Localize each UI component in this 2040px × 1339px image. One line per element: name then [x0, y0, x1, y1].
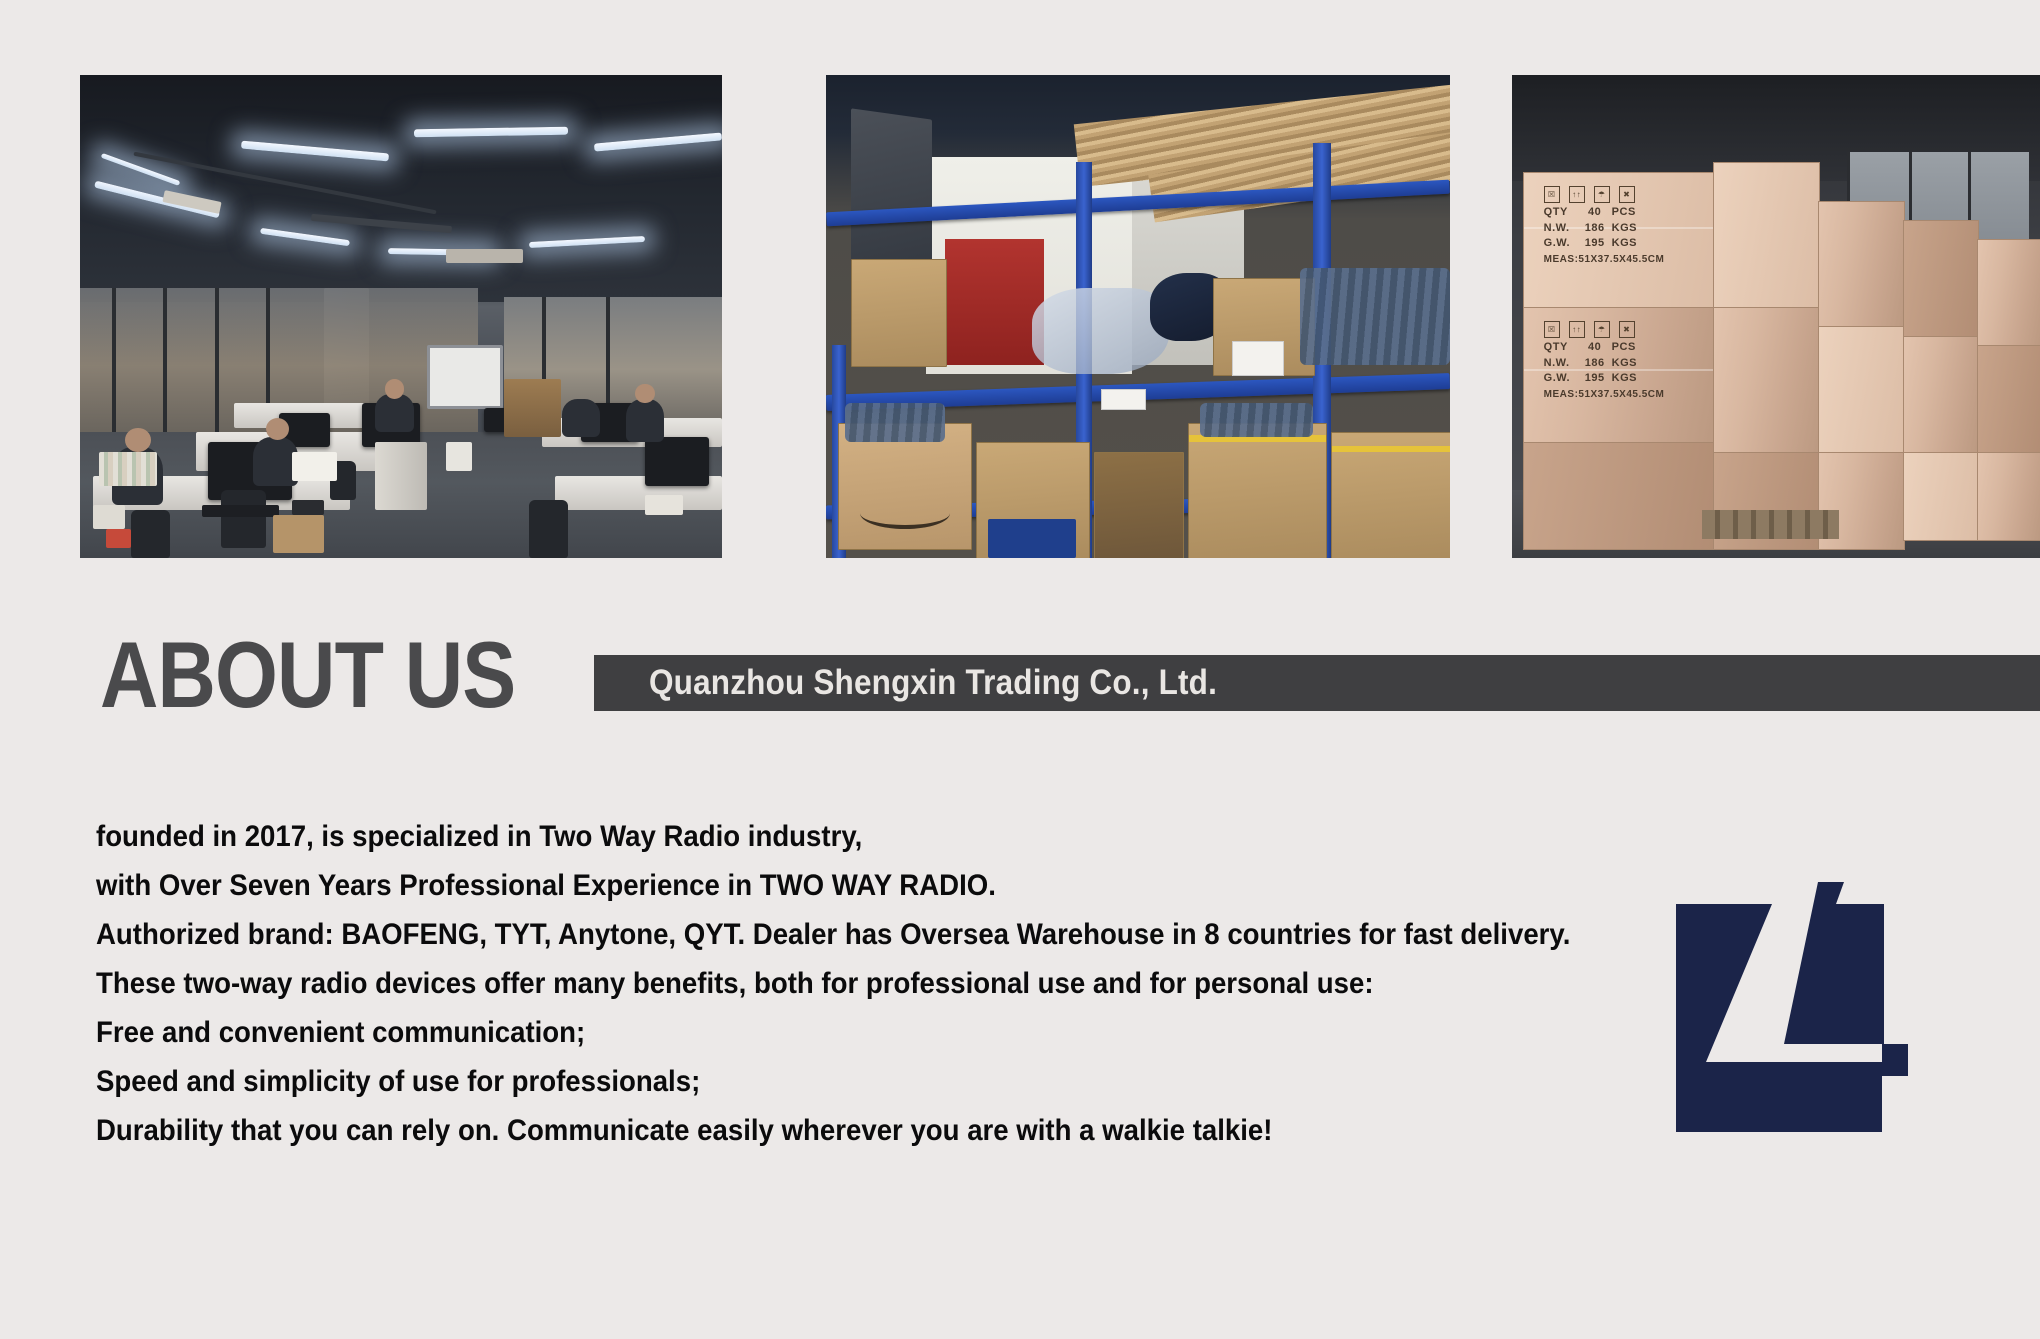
mark-row-qty: QTY 40 PCS [1544, 342, 1665, 354]
shelf-unit [504, 379, 562, 437]
person-head [635, 384, 654, 403]
shelf-label [1101, 389, 1147, 410]
export-carton [1818, 201, 1904, 329]
export-carton [1977, 239, 2040, 347]
mark-unit: KGS [1612, 238, 1637, 250]
this-way-up-icon: ↑↑ [1569, 321, 1585, 338]
paper-sheet [292, 452, 337, 481]
no-hooks-icon: ✖ [1619, 186, 1635, 203]
office-chair [221, 490, 266, 548]
mark-row-gw: G.W. 195 KGS [1544, 373, 1665, 385]
mark-label: G.W. [1544, 373, 1578, 385]
air-conditioner [446, 249, 523, 263]
mark-value: 40 [1578, 342, 1612, 354]
poly-wrapped-goods [1200, 403, 1312, 437]
export-carton [1713, 162, 1821, 309]
mark-unit: KGS [1612, 373, 1637, 385]
mark-label: QTY [1544, 342, 1578, 354]
mark-row-nw: N.W. 186 KGS [1544, 223, 1665, 235]
body-line: Speed and simplicity of use for professi… [96, 1057, 1458, 1106]
mark-label: QTY [1544, 207, 1578, 219]
mark-value: 40 [1578, 207, 1612, 219]
monitor [645, 437, 709, 485]
wooden-pallet [1702, 510, 1839, 539]
export-carton [1713, 307, 1821, 454]
cardboard-carton [1331, 432, 1450, 558]
mark-unit: PCS [1612, 207, 1636, 219]
mark-value: 195 [1578, 373, 1612, 385]
mark-unit: KGS [1612, 358, 1637, 370]
export-carton [1903, 452, 1979, 541]
fragile-icon: ☒ [1544, 321, 1560, 338]
mark-measurement: MEAS:51X37.5X45.5CM [1544, 390, 1665, 401]
mark-label: G.W. [1544, 238, 1578, 250]
body-line: Authorized brand: BAOFENG, TYT, Anytone,… [96, 910, 1458, 959]
red-product-box [945, 239, 1045, 365]
person-head [385, 379, 404, 398]
body-line: Free and convenient communication; [96, 1008, 1458, 1057]
keyboard [202, 505, 279, 517]
no-hooks-icon: ✖ [1619, 321, 1635, 338]
handling-icon-row: ☒ ↑↑ ☂ ✖ [1544, 321, 1665, 338]
body-line: These two-way radio devices offer many b… [96, 959, 1458, 1008]
keep-dry-icon: ☂ [1594, 321, 1610, 338]
keep-dry-icon: ☂ [1594, 186, 1610, 203]
amazon-smile-icon [860, 498, 949, 530]
about-body-text: founded in 2017, is specialized in Two W… [96, 812, 1576, 1155]
handling-icon-row: ☒ ↑↑ ☂ ✖ [1544, 186, 1665, 203]
whiteboard [427, 345, 504, 409]
cardboard-carton [851, 259, 947, 367]
yellow-tape [1332, 446, 1450, 452]
fragile-icon: ☒ [1544, 186, 1560, 203]
person-head [125, 428, 151, 452]
photo-office-interior [80, 75, 722, 558]
export-carton [1977, 452, 2040, 541]
carton-shipping-marks: ☒ ↑↑ ☂ ✖ QTY 40 PCS N.W. 186 KGS G.W. [1544, 186, 1665, 265]
page-title: ABOUT US [100, 625, 515, 725]
cardboard-carton [1094, 452, 1183, 558]
mark-row-nw: N.W. 186 KGS [1544, 358, 1665, 370]
cabinet [375, 442, 426, 510]
company-logo-icon [1668, 872, 1936, 1140]
desk-item [645, 495, 684, 514]
poly-wrapped-goods [1300, 268, 1450, 365]
office-chair [131, 510, 170, 558]
photo-warehouse-shelving [826, 75, 1450, 558]
logo-wedge-shape [1784, 882, 1884, 1044]
export-carton [1818, 326, 1904, 454]
person-seated [626, 399, 665, 442]
photo-strip: ☒ ↑↑ ☂ ✖ QTY 40 PCS N.W. 186 KGS G.W. [0, 0, 2040, 495]
desk-item [106, 529, 132, 548]
mark-row-gw: G.W. 195 KGS [1544, 238, 1665, 250]
cardboard-carton [1188, 423, 1327, 558]
cardboard-box [273, 515, 324, 554]
desk-item [93, 505, 125, 529]
office-ceiling [80, 75, 722, 302]
mark-unit: PCS [1612, 342, 1636, 354]
person-seated [562, 399, 601, 438]
body-line: founded in 2017, is specialized in Two W… [96, 812, 1458, 861]
this-way-up-icon: ↑↑ [1569, 186, 1585, 203]
export-carton [1977, 345, 2040, 453]
body-line: with Over Seven Years Professional Exper… [96, 861, 1458, 910]
mark-measurement: MEAS:51X37.5X45.5CM [1544, 255, 1665, 266]
stool [446, 442, 472, 471]
export-carton [1903, 336, 1979, 454]
company-name: Quanzhou Shengxin Trading Co., Ltd. [649, 663, 1217, 703]
handwritten-label [1232, 341, 1284, 377]
about-heading-row: ABOUT US Quanzhou Shengxin Trading Co., … [0, 625, 2040, 735]
mark-label: N.W. [1544, 223, 1578, 235]
company-logo [1668, 872, 1936, 1140]
mark-label: N.W. [1544, 358, 1578, 370]
mark-unit: KGS [1612, 223, 1637, 235]
mark-row-qty: QTY 40 PCS [1544, 207, 1665, 219]
export-carton [1903, 220, 1979, 338]
photo-carton-stack: ☒ ↑↑ ☂ ✖ QTY 40 PCS N.W. 186 KGS G.W. [1512, 75, 2040, 558]
mark-value: 186 [1578, 358, 1612, 370]
poly-wrapped-goods [845, 403, 945, 442]
poly-bag-bundle [1032, 288, 1169, 375]
document-stack [99, 452, 157, 486]
person-seated [375, 394, 414, 433]
mark-value: 195 [1578, 238, 1612, 250]
mark-value: 186 [1578, 223, 1612, 235]
body-line: Durability that you can rely on. Communi… [96, 1106, 1458, 1155]
company-name-bar: Quanzhou Shengxin Trading Co., Ltd. [594, 655, 2040, 711]
carton-shipping-marks: ☒ ↑↑ ☂ ✖ QTY 40 PCS N.W. 186 KGS G.W. [1544, 321, 1665, 400]
office-chair [529, 500, 568, 558]
blue-crate [988, 519, 1075, 558]
export-carton [1523, 442, 1715, 550]
desk-item [292, 500, 324, 514]
